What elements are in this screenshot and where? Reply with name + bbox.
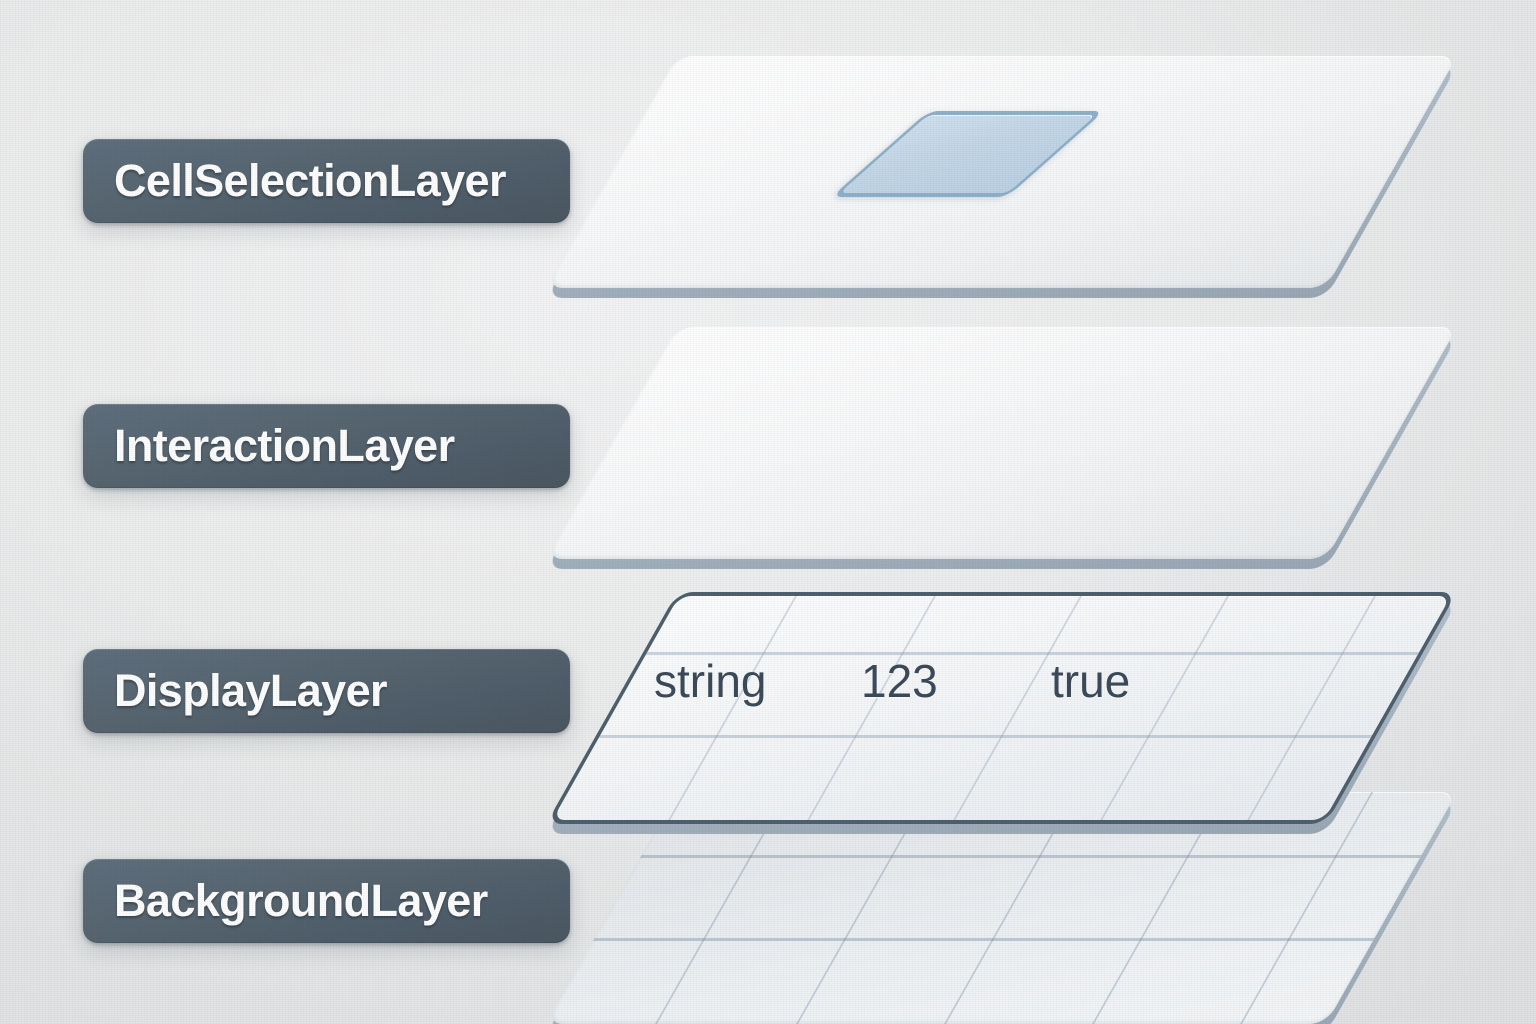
layer-label-cell-selection[interactable]: CellSelectionLayer [83, 139, 570, 223]
layer-stack-diagram: string 123 true CellSelectionLayer Inter… [0, 0, 1536, 1024]
plane-face-display [546, 592, 1457, 824]
plane-surface-display [546, 592, 1457, 824]
plane-surface-cell-selection [546, 56, 1457, 288]
plane-face-interaction [546, 327, 1457, 559]
plane-face-cell-selection [546, 56, 1457, 288]
plane-display-layer[interactable]: string 123 true [546, 592, 1458, 824]
grid-display-layer [552, 596, 1451, 820]
plane-cell-selection-layer[interactable] [546, 56, 1458, 288]
plane-interaction-layer[interactable] [546, 327, 1458, 559]
layer-label-background[interactable]: BackgroundLayer [83, 859, 570, 943]
layer-label-text: BackgroundLayer [83, 875, 488, 927]
selected-cell-highlight[interactable] [831, 111, 1104, 197]
layer-label-text: CellSelectionLayer [83, 155, 506, 207]
layer-label-interaction[interactable]: InteractionLayer [83, 404, 570, 488]
layer-label-text: InteractionLayer [83, 420, 455, 472]
plane-surface-interaction [546, 327, 1457, 559]
layer-label-display[interactable]: DisplayLayer [83, 649, 570, 733]
layer-label-text: DisplayLayer [83, 665, 387, 717]
